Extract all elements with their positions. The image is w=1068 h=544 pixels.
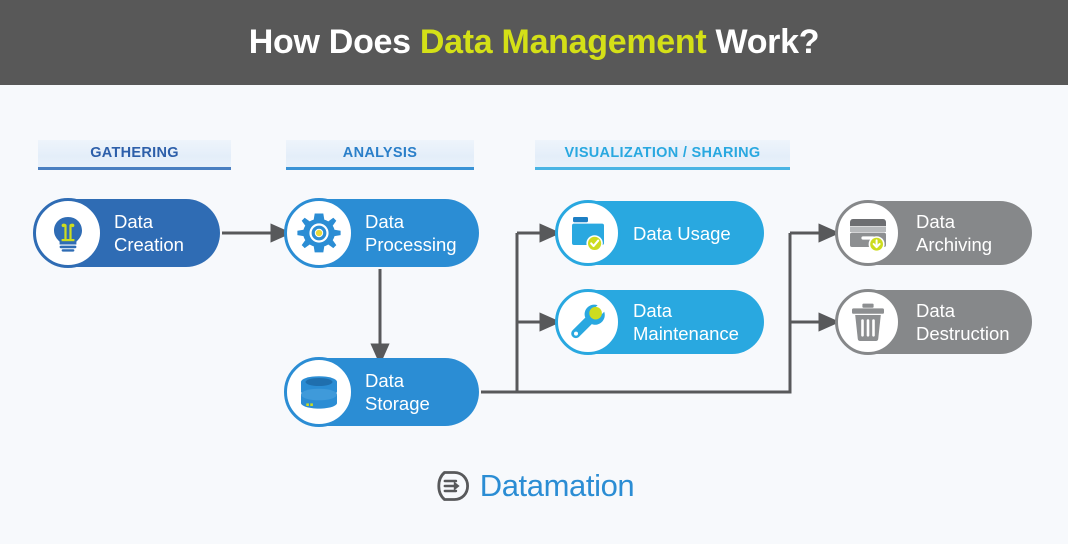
page-title: How Does Data Management Work? <box>249 23 819 62</box>
node-icon-badge <box>555 289 621 355</box>
section-header-gathering-label: GATHERING <box>38 140 231 166</box>
section-header-analysis-label: ANALYSIS <box>286 140 474 166</box>
node-data-maintenance[interactable]: Data Maintenance <box>556 290 764 354</box>
datamation-logo-mark <box>434 466 474 506</box>
node-data-destruction[interactable]: Data Destruction <box>836 290 1032 354</box>
database-icon <box>296 370 342 414</box>
wrench-icon <box>567 301 609 343</box>
trash-icon <box>848 301 888 343</box>
section-underline <box>38 167 231 170</box>
node-label: Data Maintenance <box>633 299 739 345</box>
node-data-processing[interactable]: Data Processing <box>285 199 479 267</box>
page-title-highlight: Data Management <box>420 23 706 61</box>
section-header-analysis: ANALYSIS <box>286 140 474 170</box>
node-label: Data Processing <box>365 210 457 256</box>
node-data-creation[interactable]: Data Creation <box>34 199 220 267</box>
lightbulb-icon <box>47 212 89 254</box>
page-title-after: Work? <box>706 23 819 61</box>
section-header-gathering: GATHERING <box>38 140 231 170</box>
section-underline <box>535 167 790 170</box>
page-title-before: How Does <box>249 23 420 61</box>
connector-storage-trunk <box>481 233 517 392</box>
node-icon-badge <box>835 200 901 266</box>
node-label: Data Creation <box>114 210 184 256</box>
node-icon-badge <box>284 357 354 427</box>
node-icon-badge <box>284 198 354 268</box>
title-bar: How Does Data Management Work? <box>0 0 1068 85</box>
folder-check-icon <box>567 213 609 253</box>
node-data-storage[interactable]: Data Storage <box>285 358 479 426</box>
gear-icon <box>296 210 342 256</box>
node-data-archiving[interactable]: Data Archiving <box>836 201 1032 265</box>
node-label: Data Destruction <box>916 299 1010 345</box>
section-header-visualization-label: VISUALIZATION / SHARING <box>535 140 790 166</box>
section-header-visualization: VISUALIZATION / SHARING <box>535 140 790 170</box>
node-icon-badge <box>835 289 901 355</box>
section-underline <box>286 167 474 170</box>
footer-brand-name: Datamation <box>480 468 635 504</box>
node-label: Data Usage <box>633 222 731 245</box>
infographic-page: How Does Data Management Work? GATHERING… <box>0 0 1068 544</box>
node-data-usage[interactable]: Data Usage <box>556 201 764 265</box>
archive-box-icon <box>847 214 889 252</box>
node-label: Data Storage <box>365 369 430 415</box>
node-icon-badge <box>33 198 103 268</box>
node-label: Data Archiving <box>916 210 992 256</box>
node-icon-badge <box>555 200 621 266</box>
footer-logo[interactable]: Datamation <box>0 466 1068 506</box>
